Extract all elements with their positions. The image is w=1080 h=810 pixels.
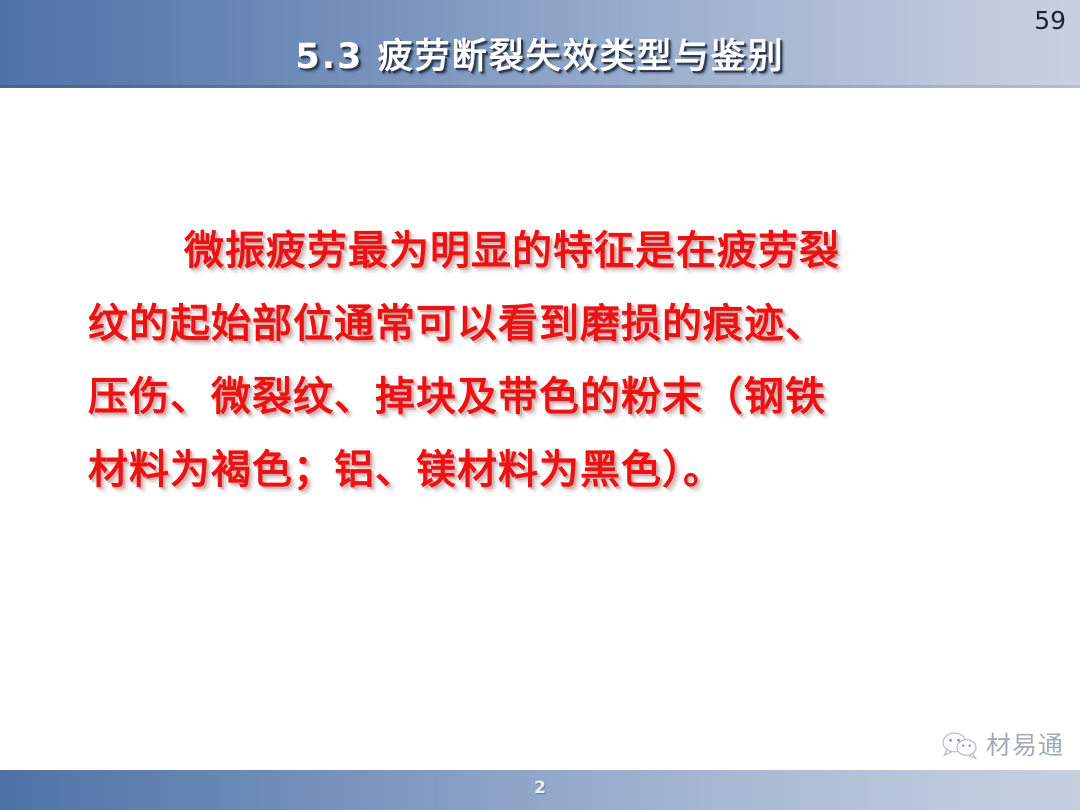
wechat-icon	[940, 730, 980, 760]
slide-number: 59	[1034, 6, 1066, 35]
footer-page-number: 2	[0, 778, 1080, 798]
slide-canvas: 5.3 疲劳断裂失效类型与鉴别 微振疲劳最为明显的特征是在疲劳裂 纹的起始部位通…	[0, 0, 1080, 810]
body-line: 压伤、微裂纹、掉块及带色的粉末（钢铁	[88, 361, 988, 434]
slide-body: 微振疲劳最为明显的特征是在疲劳裂 纹的起始部位通常可以看到磨损的痕迹、 压伤、微…	[88, 215, 988, 507]
body-line: 微振疲劳最为明显的特征是在疲劳裂	[88, 215, 988, 288]
watermark: 材易通	[940, 730, 1064, 760]
page-title: 5.3 疲劳断裂失效类型与鉴别	[0, 28, 1080, 79]
body-paragraph: 微振疲劳最为明显的特征是在疲劳裂 纹的起始部位通常可以看到磨损的痕迹、 压伤、微…	[88, 215, 988, 507]
watermark-label: 材易通	[986, 733, 1064, 758]
body-line: 材料为褐色；铝、镁材料为黑色）。	[88, 434, 988, 507]
slide-header-bar: 5.3 疲劳断裂失效类型与鉴别	[0, 0, 1080, 88]
body-line: 纹的起始部位通常可以看到磨损的痕迹、	[88, 288, 988, 361]
slide-footer-bar: 2	[0, 770, 1080, 810]
